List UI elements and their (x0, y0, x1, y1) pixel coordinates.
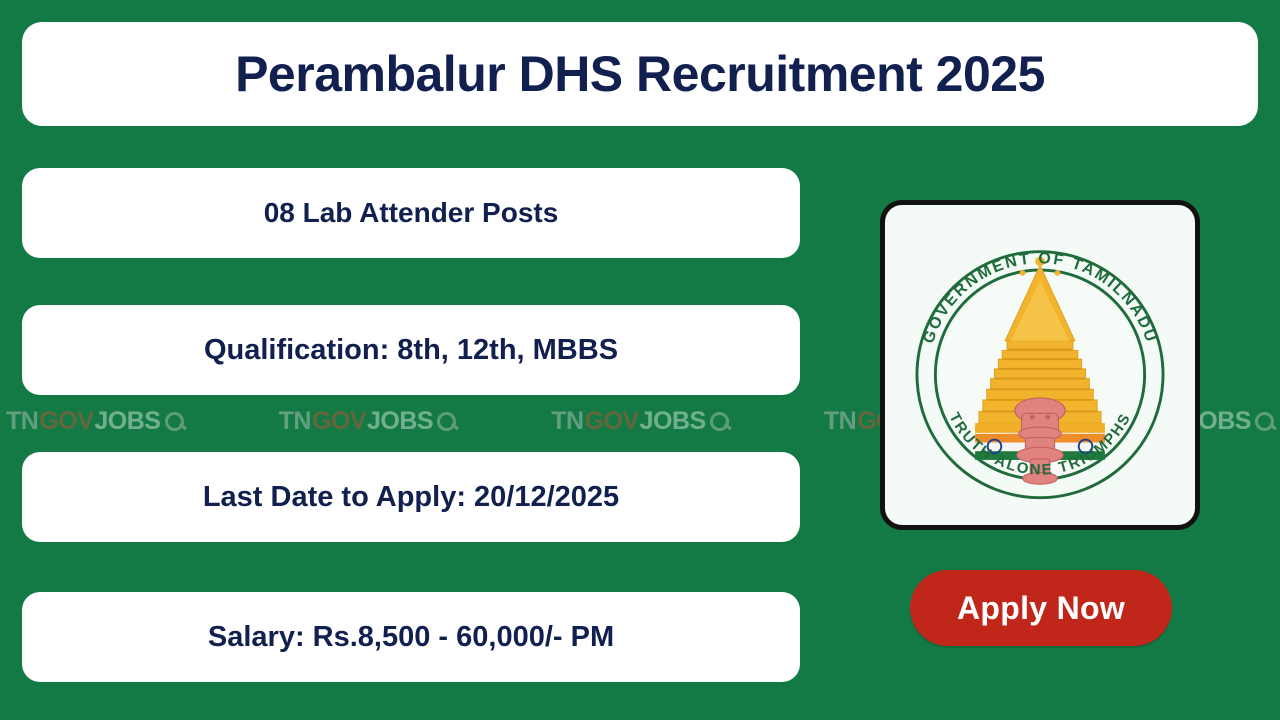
watermark-jobs: JOBS (94, 407, 160, 436)
search-icon (437, 412, 456, 431)
detail-text-posts: 08 Lab Attender Posts (264, 197, 559, 229)
detail-card-posts: 08 Lab Attender Posts (22, 168, 800, 258)
page-title-card: Perambalur DHS Recruitment 2025 (22, 22, 1258, 126)
detail-text-last-date: Last Date to Apply: 20/12/2025 (203, 481, 619, 514)
watermark-gov: GOV (39, 407, 93, 436)
search-icon (1255, 412, 1274, 431)
watermark-tn: TN (824, 407, 856, 436)
detail-card-salary: Salary: Rs.8,500 - 60,000/- PM (22, 592, 800, 682)
watermark-tn: TN (279, 407, 311, 436)
tamil-nadu-emblem-icon: GOVERNMENT OF TAMILNADU TRUTH ALONE TRIU… (885, 205, 1195, 525)
watermark: TNGOVJOBS (279, 407, 457, 436)
detail-card-qualification: Qualification: 8th, 12th, MBBS (22, 305, 800, 395)
page-title: Perambalur DHS Recruitment 2025 (235, 45, 1045, 103)
watermark-tn: TN (551, 407, 583, 436)
watermark-tn: TN (6, 407, 38, 436)
watermark-gov: GOV (312, 407, 366, 436)
apply-now-label: Apply Now (957, 590, 1125, 627)
watermark-jobs: JOBS (640, 407, 706, 436)
apply-now-button[interactable]: Apply Now (910, 570, 1172, 646)
search-icon (710, 412, 729, 431)
tamil-nadu-emblem-frame: GOVERNMENT OF TAMILNADU TRUTH ALONE TRIU… (880, 200, 1200, 530)
watermark-gov: GOV (585, 407, 639, 436)
search-icon (165, 412, 184, 431)
watermark-jobs: JOBS (367, 407, 433, 436)
detail-text-qualification: Qualification: 8th, 12th, MBBS (204, 334, 618, 367)
recruitment-poster: { "poster": { "background_color": "#147a… (0, 0, 1280, 720)
detail-text-salary: Salary: Rs.8,500 - 60,000/- PM (208, 621, 614, 654)
watermark: TNGOVJOBS (6, 407, 184, 436)
detail-card-last-date: Last Date to Apply: 20/12/2025 (22, 452, 800, 542)
watermark: TNGOVJOBS (551, 407, 729, 436)
